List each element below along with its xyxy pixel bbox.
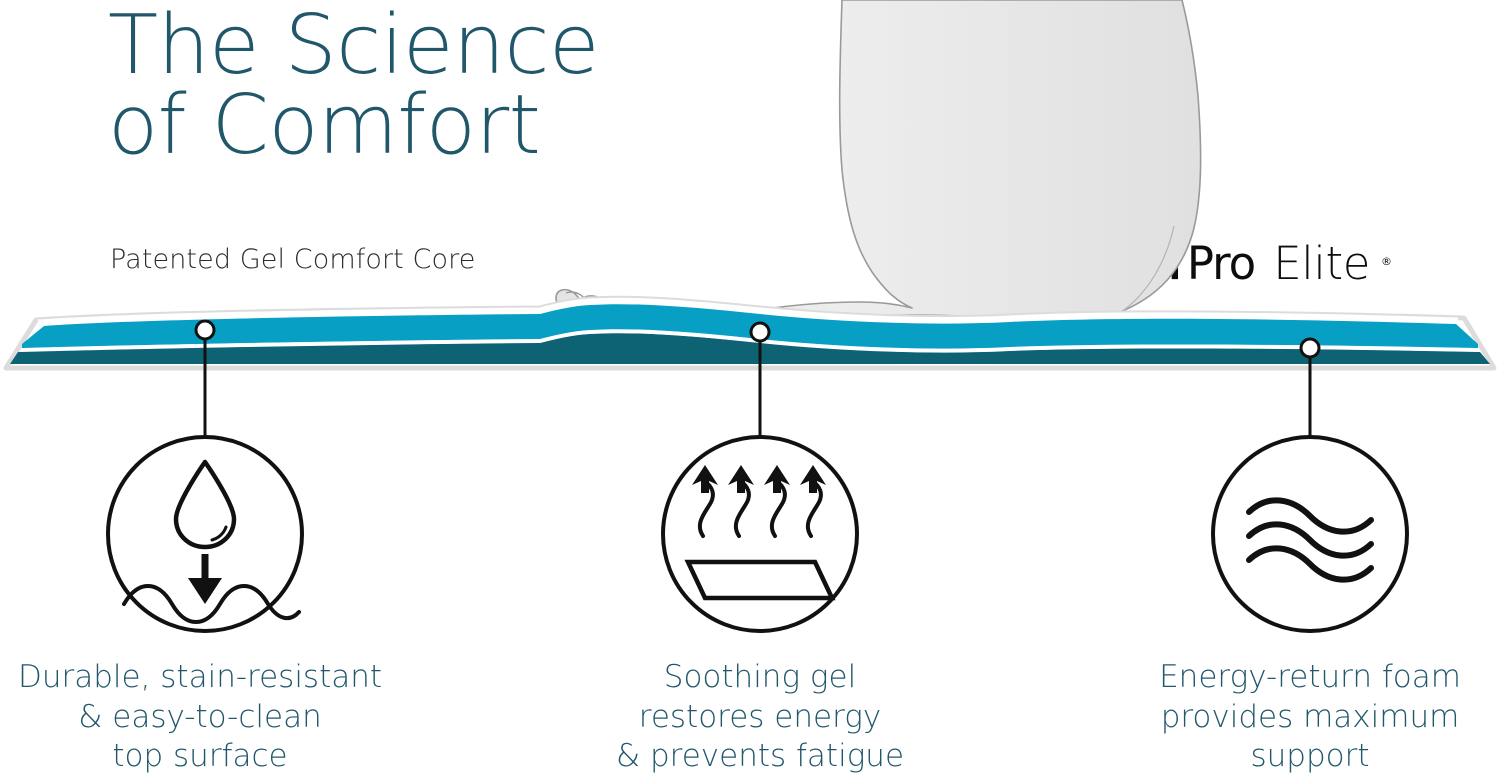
anchor-dot-3 bbox=[1301, 339, 1319, 357]
icon-circle-3 bbox=[1213, 437, 1407, 631]
anchor-dot-2 bbox=[751, 323, 769, 341]
anchor-dot-1 bbox=[196, 321, 214, 339]
callout-caption-3: Energy-return foam provides maximum supp… bbox=[1110, 658, 1500, 777]
callout-icon-2 bbox=[663, 437, 857, 631]
foot-illustration bbox=[546, 0, 1201, 335]
infographic-canvas: The Science of Comfort Patented Gel Comf… bbox=[0, 0, 1500, 778]
callout-caption-1: Durable, stain-resistant & easy-to-clean… bbox=[0, 658, 400, 777]
callout-caption-2: Soothing gel restores energy & prevents … bbox=[560, 658, 960, 777]
foot-shape bbox=[546, 0, 1201, 335]
callout-icon-3 bbox=[1213, 437, 1407, 631]
icon-circle-2 bbox=[663, 437, 857, 631]
callout-icon-1 bbox=[108, 437, 302, 631]
